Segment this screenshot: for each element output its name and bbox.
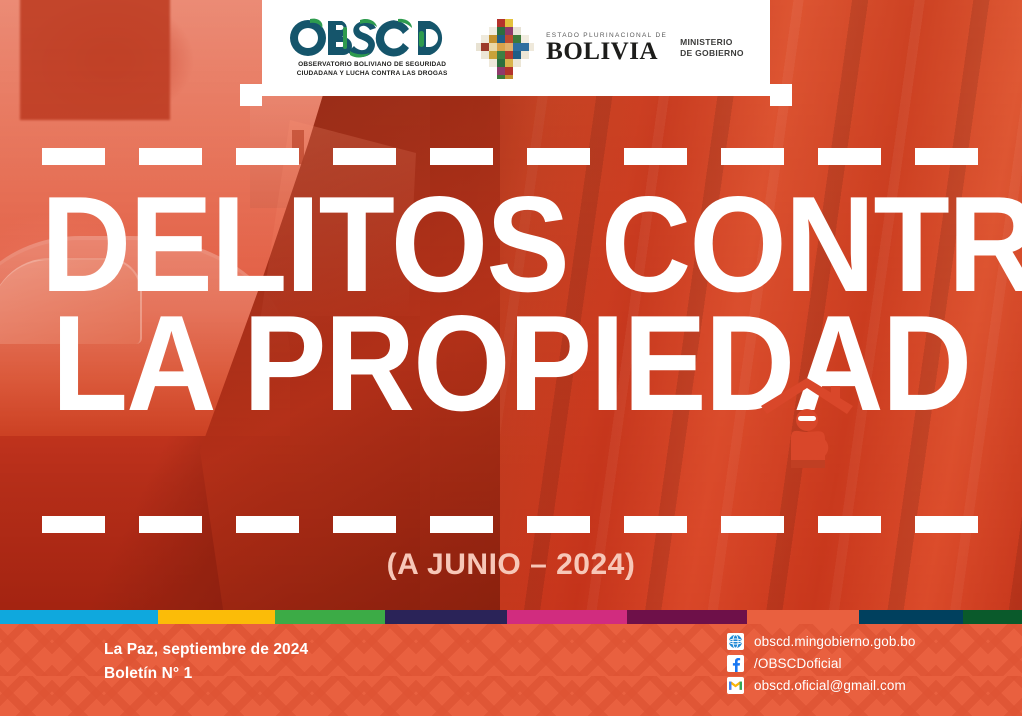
house-burglar-icon (755, 372, 860, 472)
facebook-icon (727, 655, 744, 672)
gmail-icon (727, 677, 744, 694)
dashed-rule-top (42, 148, 982, 165)
color-bar-segment-gold (158, 610, 275, 624)
hero-title-line-1: DELITOS CONTRA (41, 186, 981, 303)
color-bar-segment-forest (963, 610, 1022, 624)
color-bar-segment-cyan (0, 610, 158, 624)
contact-facebook[interactable]: /OBSCDoficial (727, 655, 916, 672)
color-bar-segment-teal (859, 610, 963, 624)
contact-website-label: obscd.mingobierno.gob.bo (754, 634, 916, 649)
footer-publication-info: La Paz, septiembre de 2024 Boletín N° 1 (104, 638, 308, 686)
bolivia-logo: ESTADO PLURINACIONAL DE BOLIVIA MINISTER… (474, 17, 744, 79)
color-bar-segment-plum (627, 610, 747, 624)
hero-subtitle: (A JUNIO – 2024) (0, 548, 1022, 582)
footer-contacts: obscd.mingobierno.gob.bo /OBSCDoficial (727, 633, 916, 694)
bolivia-ministry-name: MINISTERIO DE GOBIERNO (680, 37, 744, 60)
footer-place-date: La Paz, septiembre de 2024 (104, 638, 308, 662)
bolivia-chakana-icon (474, 17, 536, 79)
obscd-logo-icon (288, 17, 456, 59)
contact-email[interactable]: obscd.oficial@gmail.com (727, 677, 916, 694)
logo-panel-notch-left (240, 84, 262, 106)
logo-panel-notch-right (770, 84, 792, 106)
color-bar (0, 610, 1022, 624)
globe-icon (727, 633, 744, 650)
hero-title-block: DELITOS CONTRA LA PROPIEDAD (0, 186, 1022, 422)
color-bar-segment-magenta (507, 610, 627, 624)
bulletin-cover: DELITOS CONTRA LA PROPIEDAD (A JUNIO – 2… (0, 0, 1022, 716)
contact-website[interactable]: obscd.mingobierno.gob.bo (727, 633, 916, 650)
dashed-rule-bottom (42, 516, 982, 533)
obscd-logo: OBSERVATORIO BOLIVIANO DE SEGURIDAD CIUD… (288, 17, 456, 79)
obscd-tagline: OBSERVATORIO BOLIVIANO DE SEGURIDAD CIUD… (297, 61, 448, 79)
bolivia-country-name: BOLIVIA (546, 40, 667, 63)
footer-issue-number: Boletín N° 1 (104, 662, 308, 686)
contact-email-label: obscd.oficial@gmail.com (754, 678, 906, 693)
color-bar-segment-navy (385, 610, 507, 624)
color-bar-segment-orange-gap (747, 610, 859, 624)
color-bar-segment-green (275, 610, 385, 624)
footer: La Paz, septiembre de 2024 Boletín N° 1 … (0, 624, 1022, 716)
logo-panel: OBSERVATORIO BOLIVIANO DE SEGURIDAD CIUD… (262, 0, 770, 96)
contact-facebook-label: /OBSCDoficial (754, 656, 842, 671)
